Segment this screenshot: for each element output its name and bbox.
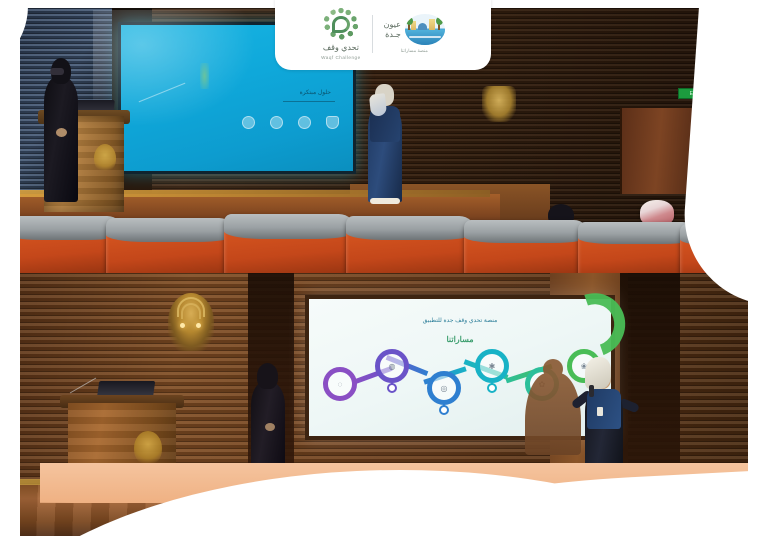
theatre-chair [464,220,590,273]
microphone-icon [589,385,594,397]
sconce-bulb-left [180,323,185,328]
name-badge [597,407,603,416]
jeddah-eyes-logo: عيون جـدة [373,14,456,54]
exit-sign: EXIT [678,88,714,99]
hand [56,128,67,137]
jeddah-landmark-icon [405,14,445,45]
node-pin [387,383,397,393]
wall-sconce-icon [482,86,516,122]
sponsor-logo-badge: تحدي وقف Waqf Challenge عيون جـدة [275,0,491,70]
ghutra-headdress [585,357,611,389]
jeddah-logo-subtitle: منصة مساراتنا [401,48,428,54]
male-presenter-top [362,80,408,204]
chair-headrest [224,214,356,239]
tree-crown [406,17,413,25]
woman-in-abaya-top [38,54,84,202]
jeddah-logo-mark-and-text: عيون جـدة [384,14,445,45]
infographic-node-4: ✱ [475,349,509,383]
audience-seating [20,198,748,273]
ghutra-headdress [369,93,387,117]
node-pin [439,405,449,415]
wall-sconce-light-icon [168,293,214,351]
jeddah-logo-arabic-lines: عيون جـدة [384,20,401,39]
podium-crest-emblem [134,431,162,465]
slide-subtitle-bottom: مساراتنا [309,335,611,344]
chair-headrest [346,216,476,240]
abaya-body [44,76,78,202]
chair-headrest [464,220,590,243]
wreath-icon [323,8,359,40]
slide-title-underline [283,101,335,102]
tree-crown [436,17,443,25]
screenshot-canvas: EXIT حلول مبتكرة [0,0,770,550]
sconce-arc-inner [181,303,201,319]
water-waves [405,30,445,45]
theatre-chair [346,216,476,273]
slide-icon-2 [270,116,283,129]
photo-collage: EXIT حلول مبتكرة [20,8,748,536]
slide-green-accent [200,63,209,89]
slide-icon-row [242,116,339,129]
slide-title-bottom: منصة تحدي وقف جدة للتطبيق [309,317,611,324]
waqf-logo-arabic: تحدي وقف [323,43,359,52]
hand [265,423,275,431]
sconce-bulb-right [196,323,201,328]
handshake-icon: ◍ [389,362,396,371]
idea-icon: ◌ [338,380,343,389]
head-covering [257,363,278,389]
silhouette-shadow [525,373,581,455]
chair-headrest [680,224,748,245]
theatre-chair [680,224,748,273]
jeddah-logo-arabic-line2: جـدة [385,30,401,39]
node-pin [487,383,497,393]
jeddah-logo-arabic-line1: عيون [384,20,401,29]
theatre-chair [106,218,236,273]
wreath-inner-loop [332,16,350,33]
waqf-logo-english: Waqf Challenge [321,55,361,60]
chart-icon: ◎ [441,384,448,393]
infographic-node-2: ◍ [375,349,409,383]
slide-icon-3 [298,116,311,129]
slide-title-top: حلول مبتكرة [224,89,331,96]
podium-crest-emblem [94,144,116,172]
chair-headrest [106,218,236,242]
exit-sign-label: EXIT [690,91,703,97]
waqf-challenge-logo: تحدي وقف Waqf Challenge [310,8,372,60]
slide-icon-1 [242,116,255,129]
target-icon: ✱ [489,362,496,371]
infographic-node-1: ◌ [323,367,357,401]
auditorium-door [620,108,706,194]
audience-head-4 [732,204,748,226]
theatre-chair [224,214,356,273]
logo-row: تحدي وقف Waqf Challenge عيون جـدة [310,8,456,60]
slide-icon-4 [326,116,339,129]
infographic-node-3: ◎ [427,371,461,405]
niqab-veil [50,68,64,75]
